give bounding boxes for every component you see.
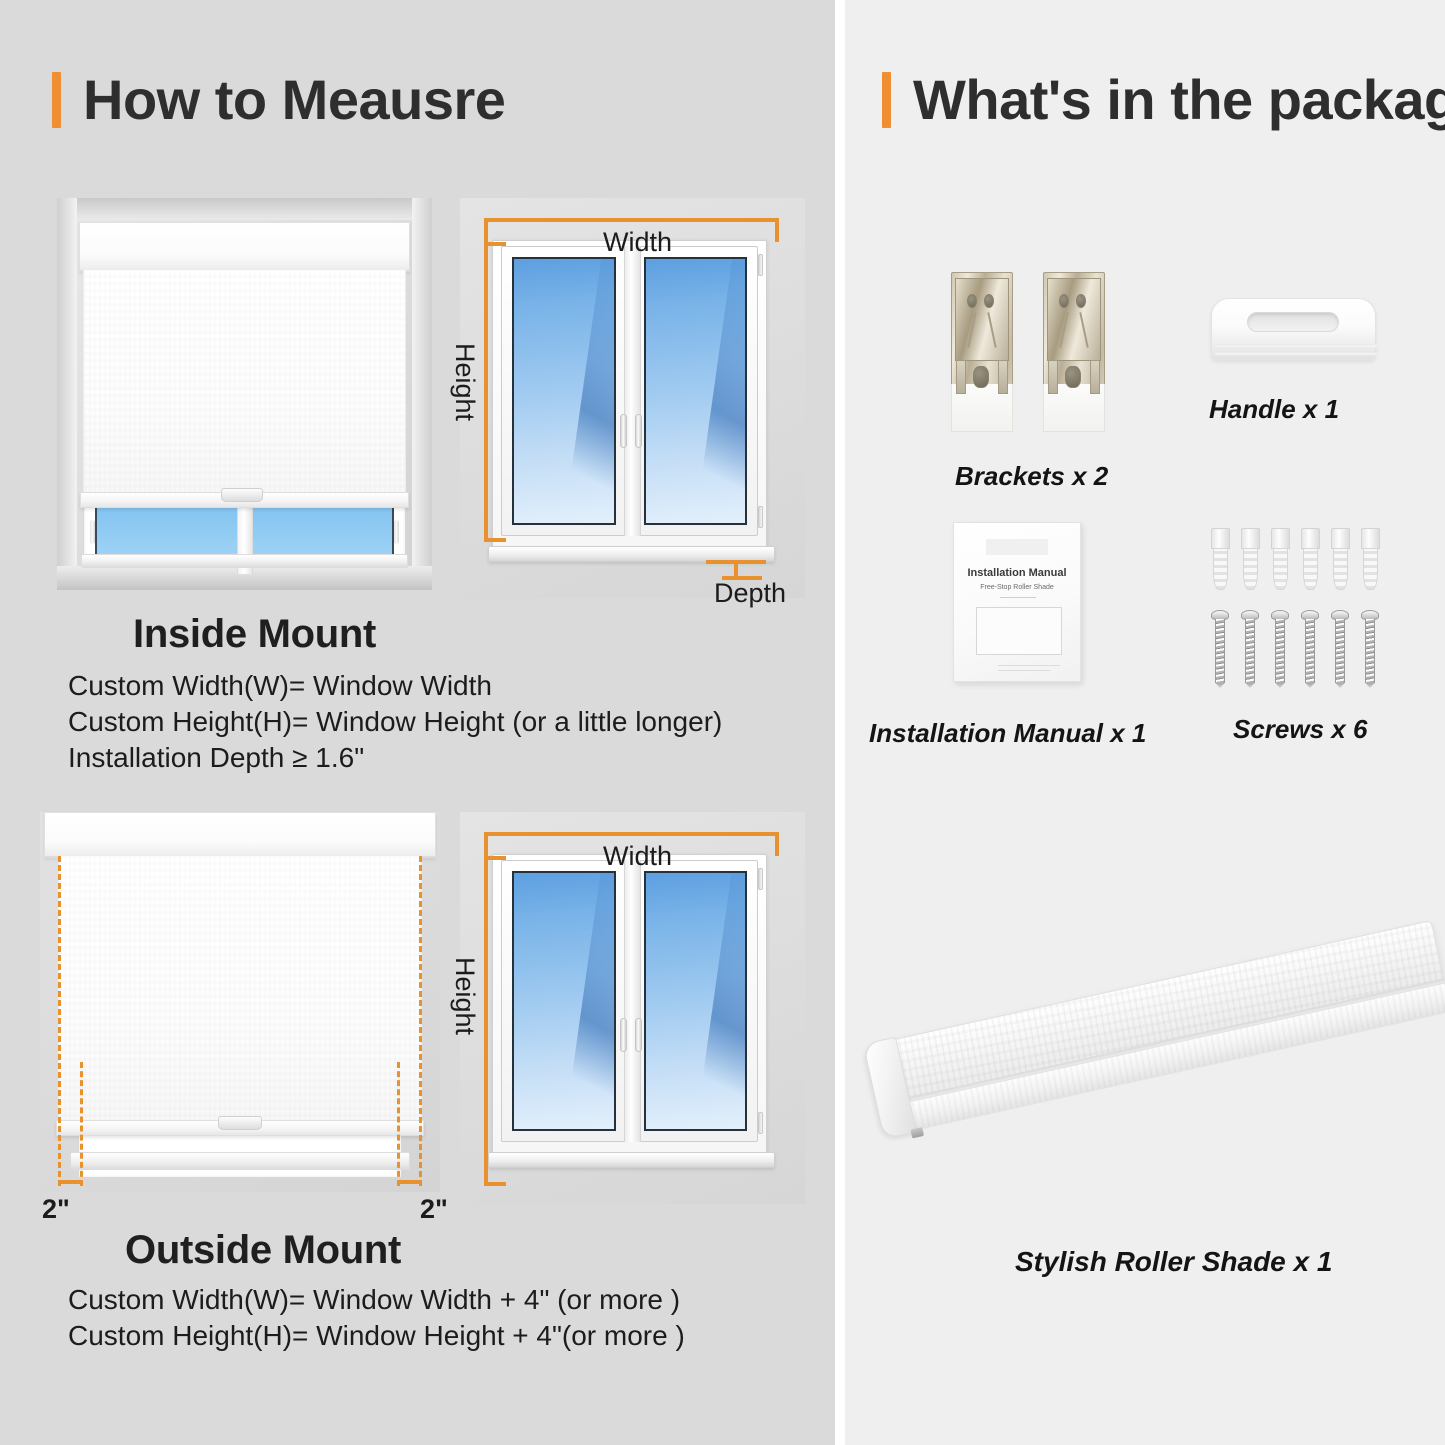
- shade-headrail: [79, 222, 410, 272]
- outside-mount-line-2: Custom Height(H)= Window Height + 4"(or …: [68, 1322, 685, 1350]
- outside-measure-glass-right: [644, 871, 748, 1131]
- bracket-center-hole: [973, 366, 989, 388]
- screw-shaft: [1245, 619, 1255, 683]
- how-to-measure-title: How to Meausre: [83, 72, 505, 128]
- panel-divider: [835, 0, 845, 1445]
- screw-shaft: [1305, 619, 1315, 683]
- installation-manual-label: Installation Manual x 1: [869, 720, 1146, 746]
- handle-ridge-2: [1215, 352, 1377, 355]
- screw-tip: [1215, 683, 1225, 688]
- shade-fabric: [83, 270, 406, 495]
- bracket-hole-a: [967, 294, 977, 308]
- overhang-label-left: 2": [42, 1196, 70, 1223]
- anchor-collar: [1361, 528, 1380, 549]
- sash-handle-right: [394, 520, 399, 544]
- screw: [1245, 610, 1255, 688]
- inside-mount-line-3: Installation Depth ≥ 1.6": [68, 744, 364, 772]
- screw: [1275, 610, 1285, 688]
- accent-bar-icon-2: [882, 72, 891, 128]
- manual-diagram-box: [976, 607, 1062, 655]
- manual-rule-2: [998, 665, 1060, 666]
- outside-shade-headrail: [44, 812, 436, 858]
- manual-cover-title: Installation Manual: [954, 568, 1080, 579]
- outside-measure-handle-right: [635, 1018, 642, 1052]
- anchor-body: [1243, 548, 1257, 590]
- anchor-body: [1273, 548, 1287, 590]
- bracket-slot-left: [956, 360, 966, 394]
- manual-rule-1: [1000, 597, 1036, 598]
- outside-measure-sill: [488, 1152, 775, 1168]
- screw: [1305, 610, 1315, 688]
- bracket-plate: [1047, 278, 1101, 361]
- outside-shade-fabric: [58, 856, 422, 1124]
- height-cap-bottom: [484, 538, 506, 542]
- screws-figure: [1209, 528, 1394, 693]
- bracket-slot-right: [1090, 360, 1100, 394]
- anchor-collar: [1301, 528, 1320, 549]
- measure-hinge-top: [758, 254, 763, 276]
- handle-figure: [1211, 298, 1381, 378]
- measure-handle-left: [620, 414, 627, 448]
- screw: [1215, 610, 1225, 688]
- overhang-arrow-left: [58, 1180, 82, 1184]
- outside-measure-mullion: [624, 860, 641, 1142]
- wall-anchor: [1361, 528, 1380, 590]
- outside-height-cap-top: [484, 856, 506, 860]
- inside-mount-line-1: Custom Width(W)= Window Width: [68, 672, 492, 700]
- overhang-dash-left: [58, 856, 61, 1186]
- outside-measure-glass-left: [512, 871, 616, 1131]
- outside-mount-title: Outside Mount: [125, 1228, 401, 1273]
- measure-sash-right: [633, 246, 759, 536]
- screw-tip: [1275, 683, 1285, 688]
- overhang-dash-right: [419, 856, 422, 1186]
- outside-width-cap-left: [484, 832, 488, 856]
- measure-mullion: [624, 246, 641, 536]
- package-title: What's in the package: [913, 72, 1445, 128]
- installation-manual-figure: Installation Manual Free-Stop Roller Sha…: [953, 522, 1103, 687]
- bracket-slot-left: [1048, 360, 1058, 394]
- anchor-collar: [1271, 528, 1290, 549]
- bracket-center-hole: [1065, 366, 1081, 388]
- width-measure-line: [484, 218, 779, 222]
- wall-anchor: [1211, 528, 1230, 590]
- bracket-slot-right: [998, 360, 1008, 394]
- screw: [1335, 610, 1345, 688]
- outside-width-label: Width: [603, 843, 672, 870]
- outside-height-label: Height: [451, 957, 478, 1035]
- outside-mount-measure-diagram: Width Height: [460, 812, 805, 1204]
- outside-measure-sash-right: [633, 860, 759, 1142]
- outside-width-measure-line: [484, 832, 779, 836]
- anchor-body: [1213, 548, 1227, 590]
- screw-shaft: [1335, 619, 1345, 683]
- anchor-collar: [1241, 528, 1260, 549]
- manual-rule-3: [998, 670, 1050, 671]
- window-edge-dash-left: [80, 1062, 83, 1186]
- manual-cover-subtitle: Free-Stop Roller Shade: [954, 584, 1080, 591]
- outside-measure-handle-left: [620, 1018, 627, 1052]
- inside-mount-shade-illustration: [57, 198, 432, 590]
- jamb-right: [412, 198, 432, 590]
- measure-glass-left: [512, 257, 616, 525]
- wall-anchor: [1331, 528, 1350, 590]
- jamb-top: [57, 198, 432, 220]
- brackets-label: Brackets x 2: [955, 463, 1108, 489]
- screw-shaft: [1365, 619, 1375, 683]
- outside-mount-line-1: Custom Width(W)= Window Width + 4" (or m…: [68, 1286, 680, 1314]
- outside-measure-sash-left: [501, 860, 627, 1142]
- roller-shade-figure: [855, 880, 1445, 1210]
- height-label: Height: [451, 343, 478, 421]
- how-to-measure-panel: How to Meausre: [0, 0, 835, 1445]
- screw-tip: [1305, 683, 1315, 688]
- window-sill: [81, 554, 408, 568]
- screw-tip: [1365, 683, 1375, 688]
- inside-mount-line-2: Custom Height(H)= Window Height (or a li…: [68, 708, 722, 736]
- accent-bar-icon: [52, 72, 61, 128]
- height-cap-top: [484, 242, 506, 246]
- measure-hinge-bottom: [758, 506, 763, 528]
- width-label: Width: [603, 229, 672, 256]
- inside-mount-measure-diagram: Width Height Depth: [460, 198, 805, 598]
- height-measure-line: [484, 242, 488, 542]
- anchor-collar: [1211, 528, 1230, 549]
- screws-label: Screws x 6: [1233, 716, 1367, 742]
- screw-tip: [1335, 683, 1345, 688]
- bracket-2: [1043, 272, 1105, 432]
- manual-top-band: [986, 539, 1048, 555]
- anchor-collar: [1331, 528, 1350, 549]
- manual-page: Installation Manual Free-Stop Roller Sha…: [953, 522, 1081, 682]
- handle-grip-slot: [1247, 312, 1339, 332]
- bracket-hole-b: [984, 294, 994, 308]
- measure-handle-right: [635, 414, 642, 448]
- handle-label: Handle x 1: [1209, 396, 1339, 422]
- measure-sash-left: [501, 246, 627, 536]
- depth-label: Depth: [714, 580, 786, 607]
- sash-handle-left: [90, 520, 95, 544]
- shade-pull-tab: [221, 488, 263, 502]
- bracket-hole-a: [1059, 294, 1069, 308]
- roller-shade-pin: [910, 1127, 924, 1138]
- overhang-arrow-right: [398, 1180, 422, 1184]
- outside-measure-hinge-bottom: [758, 1112, 763, 1134]
- how-to-measure-heading: How to Meausre: [52, 72, 505, 128]
- bracket-plate: [955, 278, 1009, 361]
- handle-ridge-1: [1215, 344, 1377, 347]
- outside-width-cap-right: [775, 832, 779, 856]
- outside-measure-hinge-top: [758, 868, 763, 890]
- outside-mount-shade-illustration: [40, 812, 440, 1192]
- screw-tip: [1245, 683, 1255, 688]
- overhang-label-right: 2": [420, 1196, 448, 1223]
- wall-anchor: [1301, 528, 1320, 590]
- width-cap-left: [484, 218, 488, 242]
- measure-glass-right: [644, 257, 748, 525]
- package-contents-panel: What's in the package: [845, 0, 1445, 1445]
- width-cap-right: [775, 218, 779, 242]
- infographic-page: How to Meausre: [0, 0, 1445, 1445]
- bracket-1: [951, 272, 1013, 432]
- wall-anchor: [1241, 528, 1260, 590]
- outside-height-cap-bottom: [484, 1182, 506, 1186]
- screw-shaft: [1275, 619, 1285, 683]
- roller-shade-label: Stylish Roller Shade x 1: [1015, 1248, 1332, 1276]
- anchor-body: [1303, 548, 1317, 590]
- brackets-figure: [943, 272, 1123, 442]
- anchor-body: [1333, 548, 1347, 590]
- outside-window-sill: [70, 1152, 410, 1170]
- wall-anchor: [1271, 528, 1290, 590]
- window-edge-dash-right: [397, 1062, 400, 1186]
- bracket-hole-b: [1076, 294, 1086, 308]
- outside-height-measure-line: [484, 856, 488, 1186]
- anchor-body: [1363, 548, 1377, 590]
- screw-shaft: [1215, 619, 1225, 683]
- screw: [1365, 610, 1375, 688]
- roller-shade-body: [885, 920, 1445, 1135]
- outside-shade-pull-tab: [218, 1116, 262, 1130]
- package-heading: What's in the package: [882, 72, 1445, 128]
- jamb-left: [57, 198, 77, 590]
- inside-mount-title: Inside Mount: [133, 612, 376, 657]
